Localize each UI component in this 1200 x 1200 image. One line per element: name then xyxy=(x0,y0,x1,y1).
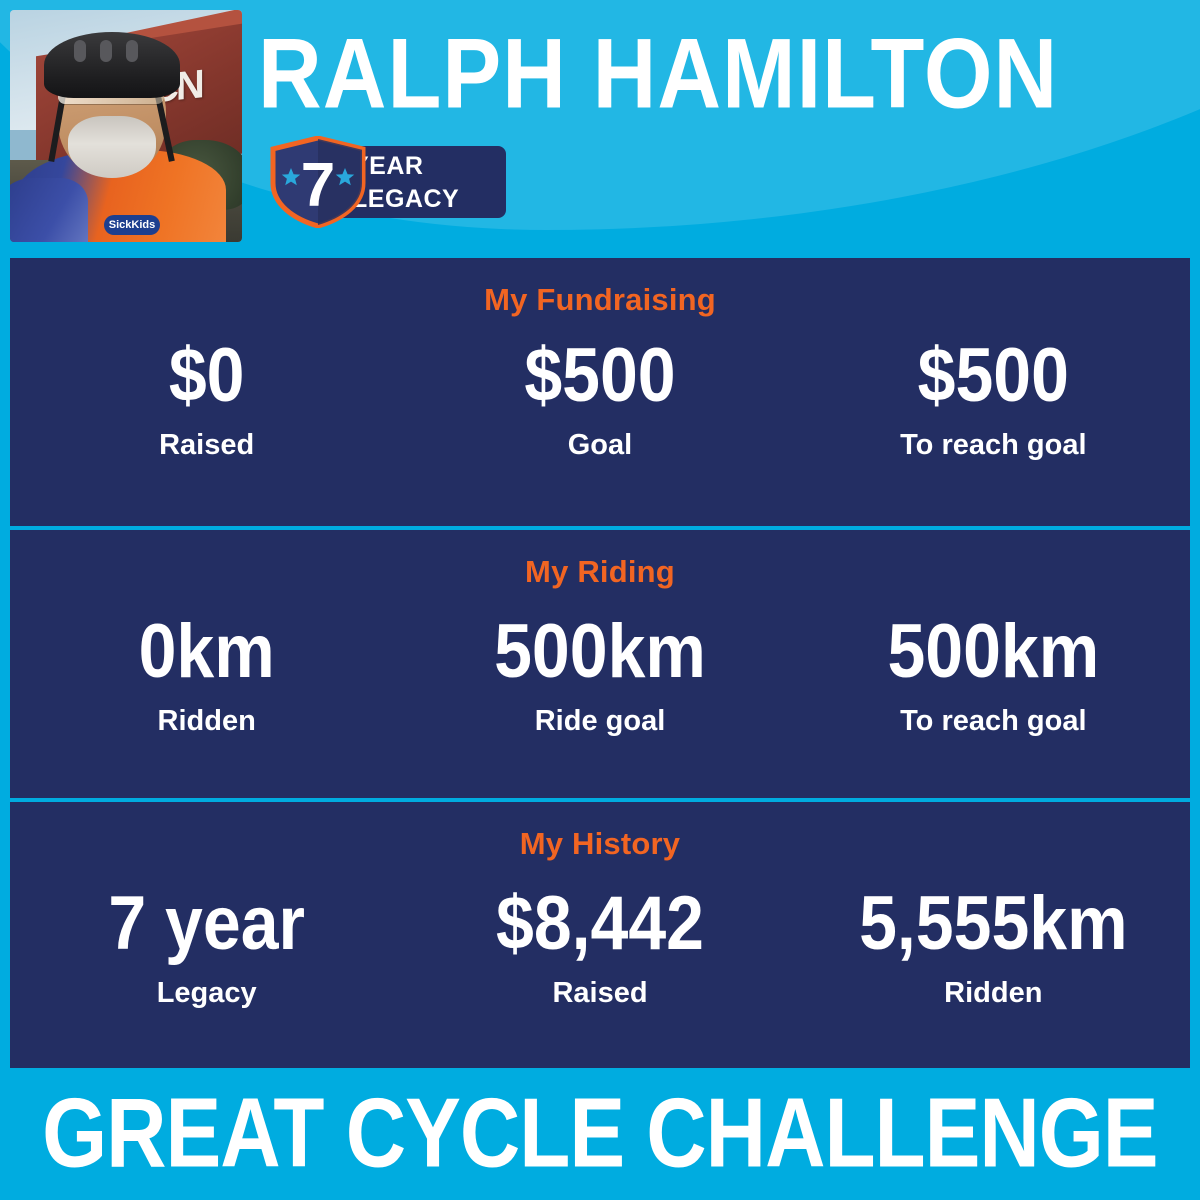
legacy-badge-line2: LEGACY xyxy=(352,183,459,216)
stat-value: $8,442 xyxy=(403,879,796,966)
stat-value: 500km xyxy=(797,607,1190,694)
helmet-vent-icon xyxy=(126,40,138,62)
stat-row: 0km Ridden 500km Ride goal 500km To reac… xyxy=(10,612,1190,738)
photo-jersey-arm xyxy=(10,178,88,242)
helmet-vent-icon xyxy=(74,40,86,62)
stat-to-reach-goal: $500 To reach goal xyxy=(797,336,1190,462)
stat-label: To reach goal xyxy=(797,428,1190,462)
photo-jersey-logo: SickKids xyxy=(104,215,160,235)
section-title: My Fundraising xyxy=(10,258,1190,318)
section-history: My History 7 year Legacy $8,442 Raised 5… xyxy=(10,798,1190,1064)
section-riding: My Riding 0km Ridden 500km Ride goal 500… xyxy=(10,526,1190,798)
stat-total-raised: $8,442 Raised xyxy=(403,884,796,1010)
stat-goal: $500 Goal xyxy=(403,336,796,462)
stat-legacy: 7 year Legacy xyxy=(10,884,403,1010)
legacy-badge-plate-text: YEAR LEGACY xyxy=(352,150,459,216)
stat-value: $0 xyxy=(10,331,403,418)
stat-label: Legacy xyxy=(10,976,403,1010)
header: CN SickKids RALPH HAMILTON YEAR LEGACY xyxy=(0,0,1200,258)
photo-helmet xyxy=(44,32,180,98)
shield-icon: 7 xyxy=(268,136,368,228)
stat-to-reach-ride-goal: 500km To reach goal xyxy=(797,612,1190,738)
brand-wordmark: GREAT CYCLE CHALLENGE xyxy=(42,1076,1157,1191)
section-title: My History xyxy=(10,802,1190,862)
legacy-badge-line1: YEAR xyxy=(352,150,459,183)
stat-label: Ridden xyxy=(797,976,1190,1010)
stat-row: $0 Raised $500 Goal $500 To reach goal xyxy=(10,336,1190,462)
footer-banner: GREAT CYCLE CHALLENGE xyxy=(0,1068,1200,1200)
stat-label: Raised xyxy=(10,428,403,462)
stat-value: 0km xyxy=(10,607,403,694)
stat-label: Raised xyxy=(403,976,796,1010)
legacy-badge: YEAR LEGACY 7 xyxy=(268,136,506,228)
stat-label: Goal xyxy=(403,428,796,462)
section-fundraising: My Fundraising $0 Raised $500 Goal $500 … xyxy=(10,258,1190,526)
stat-row: 7 year Legacy $8,442 Raised 5,555km Ridd… xyxy=(10,884,1190,1010)
stat-ride-goal: 500km Ride goal xyxy=(403,612,796,738)
helmet-vent-icon xyxy=(100,40,112,62)
stat-value: 7 year xyxy=(10,879,403,966)
page-title: RALPH HAMILTON xyxy=(258,20,1200,126)
stat-label: To reach goal xyxy=(797,704,1190,738)
stat-value: $500 xyxy=(797,331,1190,418)
stat-ridden: 0km Ridden xyxy=(10,612,403,738)
stat-total-ridden: 5,555km Ridden xyxy=(797,884,1190,1010)
section-title: My Riding xyxy=(10,530,1190,590)
photo-beard xyxy=(68,116,156,178)
legacy-badge-years: 7 xyxy=(301,151,335,220)
fundraiser-stats-poster: CN SickKids RALPH HAMILTON YEAR LEGACY xyxy=(0,0,1200,1200)
stat-value: 500km xyxy=(403,607,796,694)
avatar: CN SickKids xyxy=(10,10,242,242)
stat-value: 5,555km xyxy=(797,879,1190,966)
stat-label: Ride goal xyxy=(403,704,796,738)
stat-raised: $0 Raised xyxy=(10,336,403,462)
stat-value: $500 xyxy=(403,331,796,418)
stat-label: Ridden xyxy=(10,704,403,738)
stats-panel: My Fundraising $0 Raised $500 Goal $500 … xyxy=(10,258,1190,1068)
